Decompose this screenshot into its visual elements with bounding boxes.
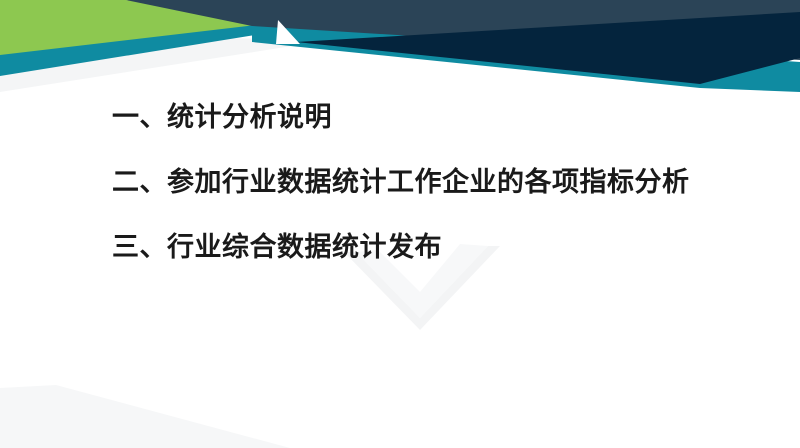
- agenda-list: 一、统计分析说明 二、参加行业数据统计工作企业的各项指标分析 三、行业综合数据统…: [112, 104, 752, 261]
- agenda-item-3: 三、行业综合数据统计发布: [112, 234, 752, 261]
- navy-dark-wedge-top-right: [296, 12, 800, 84]
- green-wedge-top-left: [0, 0, 282, 55]
- gray-triangle-bottom-left: [0, 385, 290, 448]
- presentation-slide: 一、统计分析说明 二、参加行业数据统计工作企业的各项指标分析 三、行业综合数据统…: [0, 0, 800, 448]
- agenda-item-1: 一、统计分析说明: [112, 104, 752, 131]
- navy-light-wedge-top-right: [126, 0, 800, 60]
- teal-stripe-left: [0, 22, 286, 76]
- agenda-item-2: 二、参加行业数据统计工作企业的各项指标分析: [112, 169, 752, 196]
- teal-stripe-right: [252, 24, 800, 92]
- gray-diagonal-upper-left: [0, 38, 330, 92]
- white-notch-shape: [276, 20, 300, 44]
